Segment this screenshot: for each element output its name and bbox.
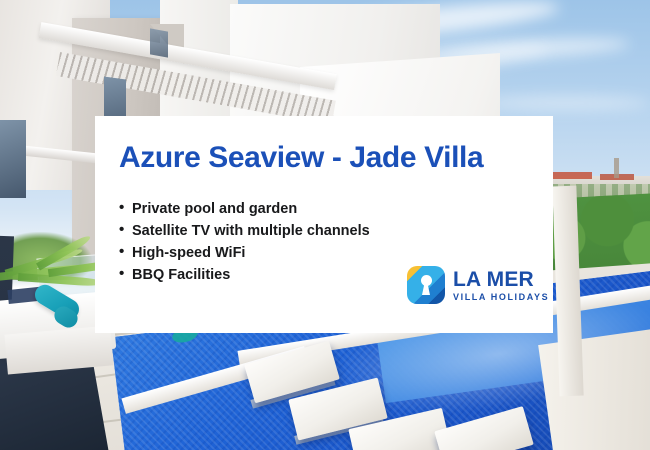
villa-window [0,120,26,198]
keyhole-icon [407,266,445,304]
page-title: Azure Seaview - Jade Villa [119,142,529,174]
distant-tower [614,158,619,178]
cloud-shape [480,96,650,110]
pool-coping [538,328,650,450]
brand-tagline: VILLA HOLIDAYS [453,293,549,302]
list-item: Private pool and garden [119,198,529,220]
brand-logo[interactable]: LA MER VILLA HOLIDAYS [407,266,549,304]
villa-window [150,28,168,57]
brand-name: LA MER [453,269,549,290]
list-item: Satellite TV with multiple channels [119,220,529,242]
brand-wordmark: LA MER VILLA HOLIDAYS [453,269,549,302]
distant-red-roof [552,172,592,179]
list-item: High-speed WiFi [119,242,529,264]
villa-listing-banner: Azure Seaview - Jade Villa Private pool … [0,0,650,450]
